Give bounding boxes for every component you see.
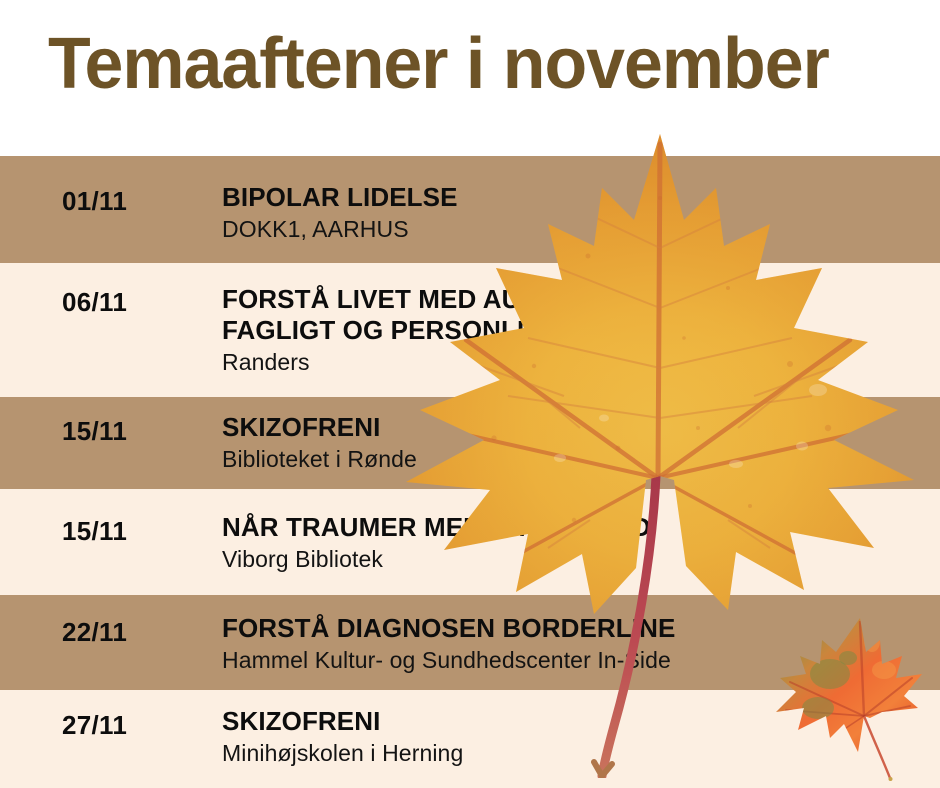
- row-date: 01/11: [62, 186, 127, 216]
- row-title: FORSTÅ LIVET MED AUTISME UD FRA ET FAGLI…: [222, 284, 930, 346]
- row-title: SKIZOFRENI: [222, 706, 930, 737]
- row-date: 22/11: [62, 617, 127, 647]
- row-place: Viborg Bibliotek: [222, 545, 930, 573]
- row-title: SKIZOFRENI: [222, 412, 930, 443]
- row-title: NÅR TRAUMER MEDFØRER PTSD: [222, 512, 930, 543]
- table-row: 01/11 BIPOLAR LIDELSE DOKK1, AARHUS: [0, 156, 940, 263]
- row-date: 06/11: [62, 287, 127, 317]
- schedule-list: 01/11 BIPOLAR LIDELSE DOKK1, AARHUS 06/1…: [0, 156, 940, 788]
- row-place: DOKK1, AARHUS: [222, 215, 930, 243]
- table-row: 15/11 SKIZOFRENI Biblioteket i Rønde: [0, 397, 940, 489]
- row-date: 15/11: [62, 516, 127, 546]
- poster-header: Temaaftener i november: [0, 0, 940, 156]
- page-title: Temaaftener i november: [48, 22, 882, 106]
- table-row: 15/11 NÅR TRAUMER MEDFØRER PTSD Viborg B…: [0, 489, 940, 595]
- row-place: Biblioteket i Rønde: [222, 445, 930, 473]
- table-row: 27/11 SKIZOFRENI Minihøjskolen i Herning: [0, 690, 940, 788]
- row-title: FORSTÅ DIAGNOSEN BORDERLINE: [222, 613, 930, 644]
- poster-canvas: Temaaftener i november 01/11 BIPOLAR LID…: [0, 0, 940, 788]
- row-place: Randers: [222, 348, 930, 376]
- row-date: 27/11: [62, 710, 127, 740]
- row-title: BIPOLAR LIDELSE: [222, 182, 930, 213]
- table-row: 22/11 FORSTÅ DIAGNOSEN BORDERLINE Hammel…: [0, 595, 940, 690]
- row-date: 15/11: [62, 416, 127, 446]
- table-row: 06/11 FORSTÅ LIVET MED AUTISME UD FRA ET…: [0, 263, 940, 397]
- row-place: Hammel Kultur- og Sundhedscenter In-Side: [222, 646, 930, 674]
- row-place: Minihøjskolen i Herning: [222, 739, 930, 767]
